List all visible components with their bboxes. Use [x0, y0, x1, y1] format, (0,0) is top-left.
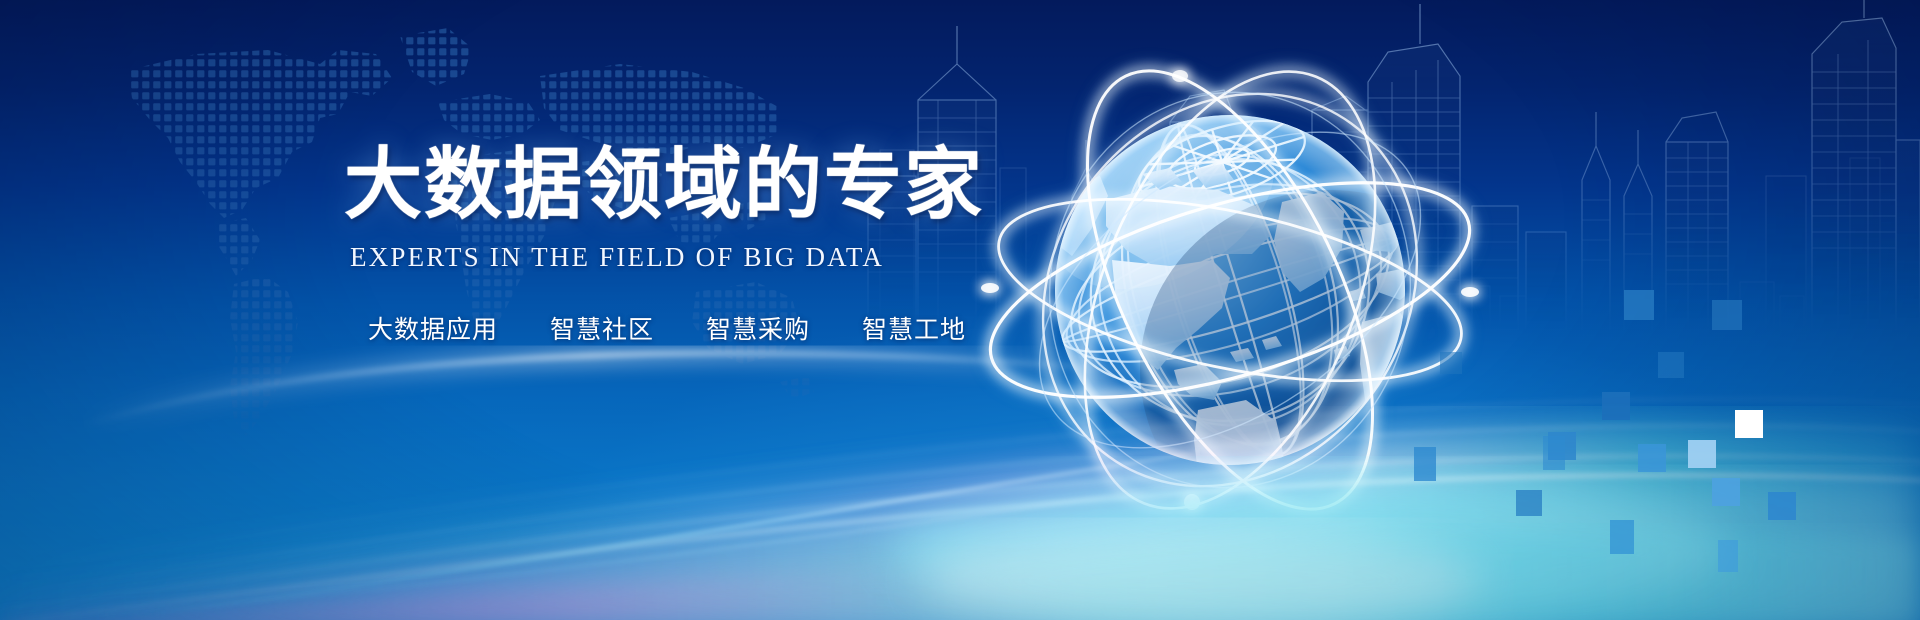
decorative-square-9	[1768, 492, 1796, 520]
decorative-square-2	[1658, 352, 1684, 378]
decorative-square-14	[1718, 540, 1738, 572]
decorative-square-0	[1624, 290, 1654, 320]
light-streak	[80, 330, 1140, 450]
globe-wireframe	[930, 40, 1530, 540]
page-subtitle: EXPERTS IN THE FIELD OF BIG DATA	[350, 242, 1064, 273]
decorative-square-5	[1548, 432, 1576, 460]
decorative-square-15	[1440, 352, 1462, 374]
decorative-square-6	[1638, 444, 1666, 472]
nav-item-1[interactable]: 智慧社区	[550, 310, 654, 346]
nav-item-2[interactable]: 智慧采购	[706, 310, 810, 346]
lower-light-streak	[0, 430, 1200, 620]
decorative-square-7	[1688, 440, 1716, 468]
decorative-square-13	[1610, 520, 1634, 554]
aurora-wave	[0, 370, 1920, 620]
decorative-square-1	[1712, 300, 1742, 330]
decorative-square-11	[1414, 447, 1436, 481]
decorative-square-10	[1516, 490, 1542, 516]
nav-item-3[interactable]: 智慧工地	[862, 310, 966, 346]
banner-root: 大数据领域的专家 EXPERTS IN THE FIELD OF BIG DAT…	[0, 0, 1920, 620]
decorative-square-4	[1735, 410, 1763, 438]
decorative-square-3	[1602, 392, 1630, 420]
category-nav: 大数据应用智慧社区智慧采购智慧工地	[368, 310, 966, 346]
headline-block: 大数据领域的专家 EXPERTS IN THE FIELD OF BIG DAT…	[344, 146, 1064, 273]
nav-item-0[interactable]: 大数据应用	[368, 310, 498, 346]
decorative-square-8	[1712, 478, 1740, 506]
decorative-square-12	[1543, 436, 1565, 470]
page-title: 大数据领域的专家	[344, 146, 1064, 226]
